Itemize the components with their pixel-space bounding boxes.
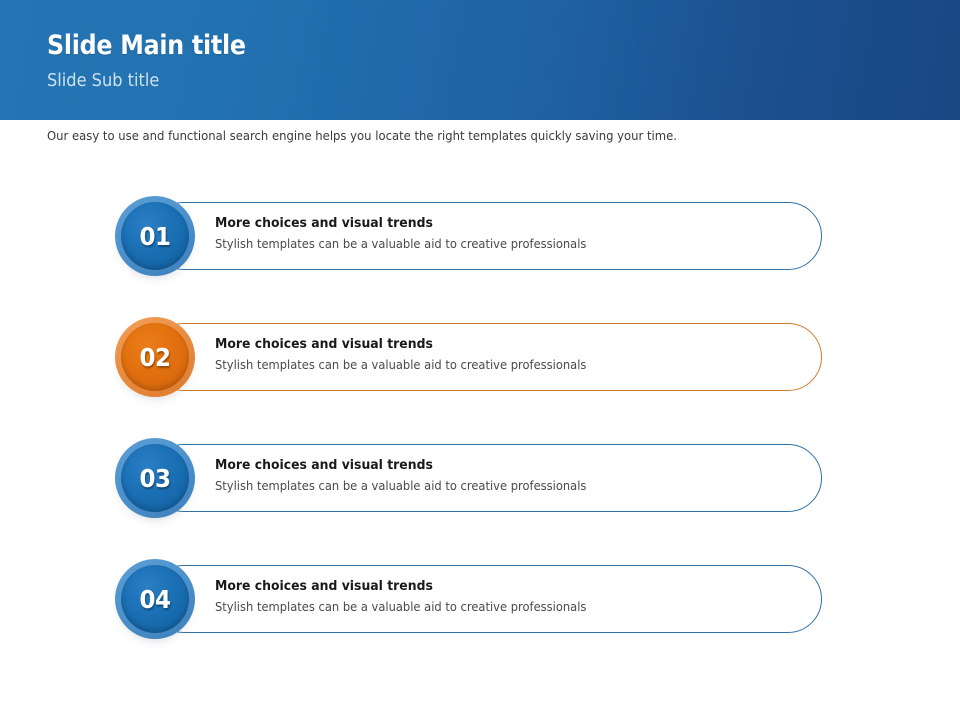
item-title: More choices and visual trends xyxy=(215,335,730,353)
list-item[interactable]: 02 More choices and visual trends Stylis… xyxy=(115,317,825,397)
item-number-badge[interactable]: 03 xyxy=(115,438,195,518)
item-text-block: More choices and visual trends Stylish t… xyxy=(215,214,775,253)
item-description: Stylish templates can be a valuable aid … xyxy=(215,476,730,495)
item-text-block: More choices and visual trends Stylish t… xyxy=(215,577,775,616)
item-number-badge[interactable]: 01 xyxy=(115,196,195,276)
item-number-badge[interactable]: 02 xyxy=(115,317,195,397)
item-title: More choices and visual trends xyxy=(215,456,730,474)
badge-ring: 03 xyxy=(115,438,195,518)
badge-number: 03 xyxy=(124,444,187,512)
item-description: Stylish templates can be a valuable aid … xyxy=(215,597,730,616)
item-description: Stylish templates can be a valuable aid … xyxy=(215,355,730,374)
item-text-block: More choices and visual trends Stylish t… xyxy=(215,456,775,495)
badge-number: 04 xyxy=(124,565,187,633)
item-title: More choices and visual trends xyxy=(215,577,730,595)
badge-ring: 02 xyxy=(115,317,195,397)
badge-ring: 01 xyxy=(115,196,195,276)
badge-inner: 01 xyxy=(121,202,189,270)
item-description: Stylish templates can be a valuable aid … xyxy=(215,234,730,253)
item-number-badge[interactable]: 04 xyxy=(115,559,195,639)
item-title: More choices and visual trends xyxy=(215,214,730,232)
badge-ring: 04 xyxy=(115,559,195,639)
list-item[interactable]: 01 More choices and visual trends Stylis… xyxy=(115,196,825,276)
item-text-block: More choices and visual trends Stylish t… xyxy=(215,335,775,374)
badge-number: 02 xyxy=(124,323,187,391)
list-item[interactable]: 04 More choices and visual trends Stylis… xyxy=(115,559,825,639)
badge-inner: 02 xyxy=(121,323,189,391)
numbered-list: 01 More choices and visual trends Stylis… xyxy=(0,0,960,720)
badge-number: 01 xyxy=(124,202,187,270)
list-item[interactable]: 03 More choices and visual trends Stylis… xyxy=(115,438,825,518)
badge-inner: 04 xyxy=(121,565,189,633)
badge-inner: 03 xyxy=(121,444,189,512)
